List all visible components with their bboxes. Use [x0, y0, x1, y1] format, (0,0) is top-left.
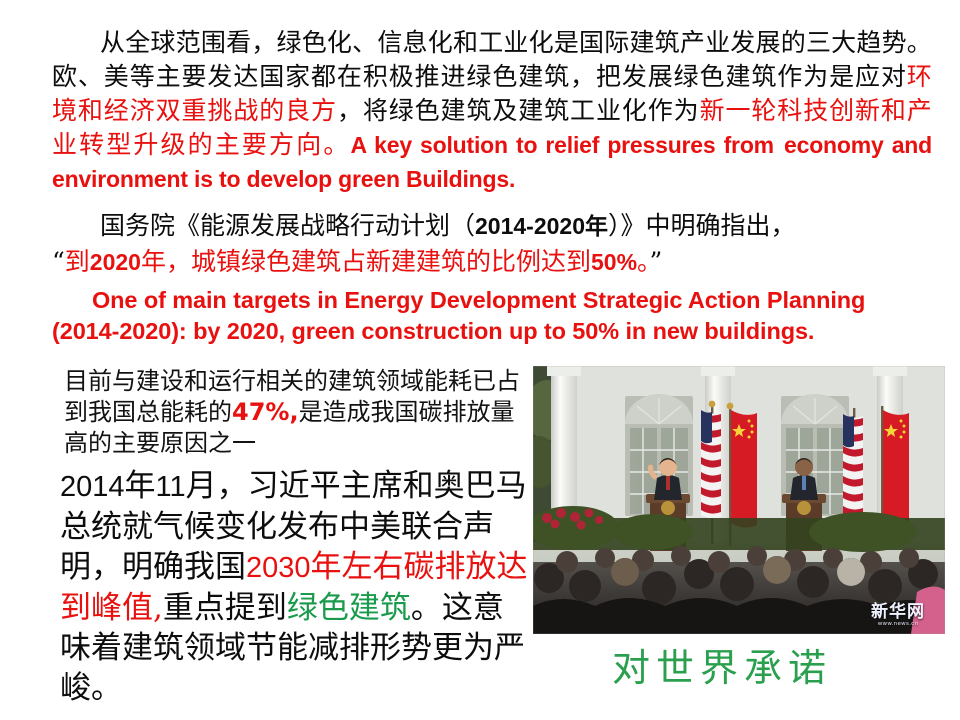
quote-close-mark: ” — [650, 247, 663, 276]
quote-open-mark: “ — [52, 247, 65, 276]
energy-percent-badge: 47%, — [232, 398, 299, 426]
quote-target-year: 2020 — [90, 249, 141, 275]
council-line1: 国务院《能源发展战略行动计划（2014-2020年）》中明确指出， — [52, 208, 932, 244]
global-line3-mid: ，将绿色建筑及建筑工业化作为 — [337, 96, 700, 125]
paragraph-state-council: 国务院《能源发展战略行动计划（2014-2020年）》中明确指出， “到2020… — [52, 208, 932, 280]
joint-line4-period: 。 — [411, 590, 442, 626]
joint-month: 11 — [156, 471, 186, 503]
quote-target-percent: 50% — [591, 249, 637, 275]
council-english-line2: (2014-2020): by 2020, green construction… — [52, 318, 814, 344]
joint-year-suffix: 年 — [125, 468, 156, 504]
global-line1-text: 从全球范围看，绿色化、信息化和工业化是国际建筑产业发展的三大趋 — [100, 28, 882, 57]
slogan-commitment-to-world: 对世界承诺 — [612, 645, 832, 691]
energy-line2-tail: 是造成我国碳 — [299, 398, 443, 426]
press-conference-photo: 新华网 www.news.cn — [533, 366, 945, 634]
photo-illustration — [533, 366, 945, 634]
quote-text-lead: 到 — [65, 247, 90, 276]
council-quote-line: “到2020年，城镇绿色建筑占新建建筑的比例达到50%。” — [52, 244, 932, 280]
joint-line4-mid: 重点提到 — [163, 590, 287, 626]
paragraph-global-trends: 从全球范围看，绿色化、信息化和工业化是国际建筑产业发展的三大趋势。欧、美等主要发… — [52, 26, 932, 196]
paragraph-state-council-english: One of main targets in Energy Developmen… — [52, 285, 932, 347]
global-english-line1: A key solution to relief pressures from — [350, 132, 773, 158]
presentation-slide: 从全球范围看，绿色化、信息化和工业化是国际建筑产业发展的三大趋势。欧、美等主要发… — [0, 0, 960, 720]
joint-peak-tail: 年左右碳排 — [311, 549, 466, 585]
energy-line1: 目前与建设和运行相关的建筑领域能耗 — [64, 367, 472, 395]
council-title-lead: 国务院《能源发展战略行动计划（ — [100, 211, 475, 240]
quote-text-end: 。 — [637, 247, 650, 276]
paragraph-building-energy: 目前与建设和运行相关的建筑领域能耗已占到我国总能耗的47%,是造成我国碳排放量高… — [64, 366, 526, 459]
joint-green-building-highlight: 绿色建筑 — [287, 590, 411, 626]
global-line3-lead: 是应对 — [829, 62, 907, 91]
council-english-line1: One of main targets in Energy Developmen… — [92, 287, 865, 313]
joint-line1-tail: 月，习近平主席和奥巴 — [186, 468, 496, 504]
council-plan-years: 2014-2020年 — [475, 213, 608, 239]
council-title-tail: ）》中明确指出， — [608, 211, 796, 240]
global-highlight-newround: 新一轮 — [700, 96, 778, 125]
quote-text-mid: 年，城镇绿色建筑占新建建筑的比例达到 — [141, 247, 591, 276]
joint-year: 2014 — [60, 471, 125, 503]
paragraph-joint-statement: 2014年11月，习近平主席和奥巴马总统就气候变化发布中美联合声明，明确我国20… — [60, 466, 530, 708]
joint-peak-year: 2030 — [246, 552, 311, 584]
